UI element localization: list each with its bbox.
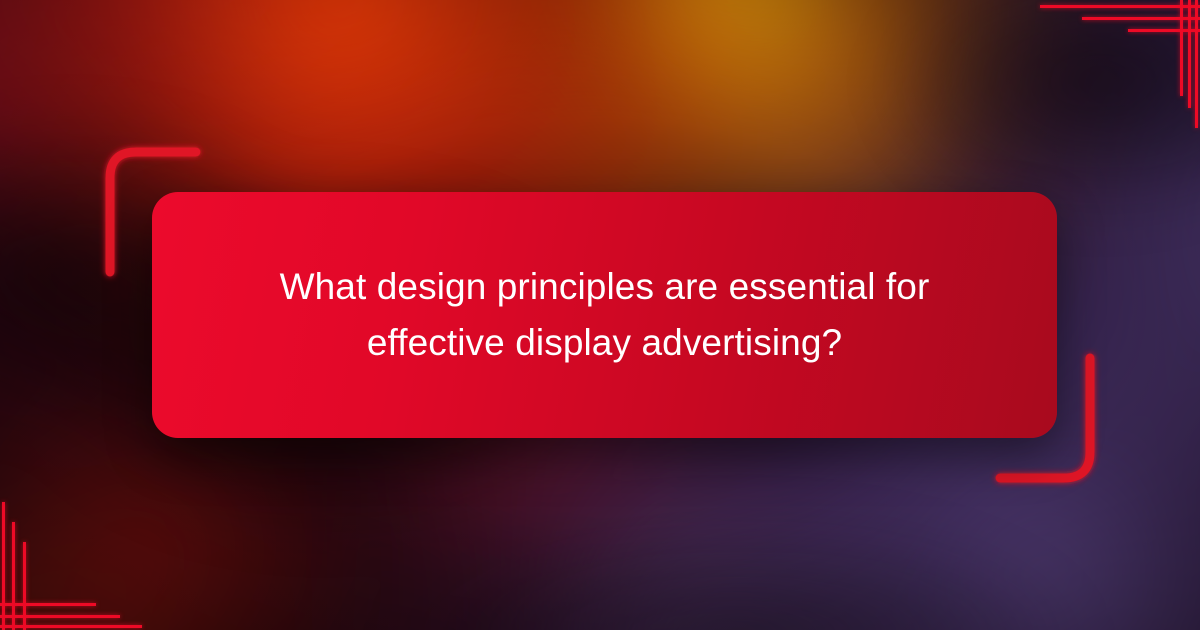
promo-card-canvas: What design principles are essential for… xyxy=(0,0,1200,630)
question-card: What design principles are essential for… xyxy=(152,192,1057,438)
question-text: What design principles are essential for… xyxy=(221,259,989,371)
